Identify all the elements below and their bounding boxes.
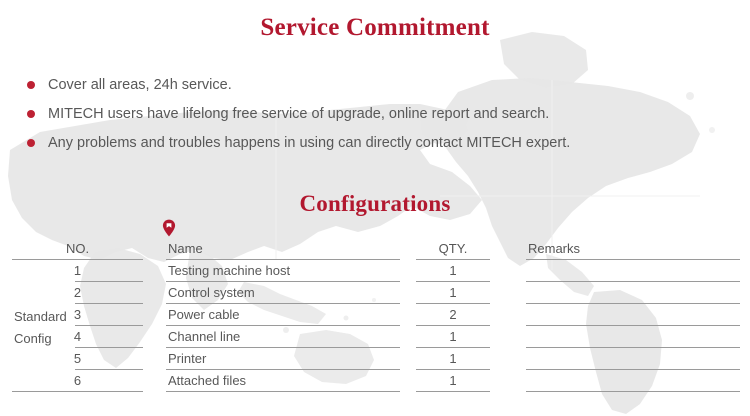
list-item: MITECH users have lifelong free service …	[27, 99, 727, 128]
service-commitment-list: Cover all areas, 24h service. MITECH use…	[27, 70, 727, 157]
bullet-dot-icon	[27, 110, 35, 118]
cell-name: Channel line	[166, 326, 400, 348]
cell-remarks	[526, 304, 740, 326]
cell-name: Control system	[166, 282, 400, 304]
cell-name: Printer	[166, 348, 400, 370]
cell-no: 1	[12, 260, 143, 282]
cell-remarks	[526, 282, 740, 304]
column-header-no: NO.	[12, 238, 143, 260]
cell-no: 3	[12, 304, 143, 326]
list-item-label: Cover all areas, 24h service.	[48, 77, 232, 93]
cell-no: 2	[12, 282, 143, 304]
service-commitment-title: Service Commitment	[0, 14, 750, 42]
cell-name: Testing machine host	[166, 260, 400, 282]
cell-qty: 1	[416, 326, 490, 348]
cell-name: Attached files	[166, 370, 400, 392]
cell-remarks	[526, 370, 740, 392]
column-name: Name Testing machine host Control system…	[166, 238, 400, 392]
list-item-label: Any problems and troubles happens in usi…	[48, 135, 570, 151]
configurations-table: Standard Config NO. 1 2 3 4 5 6 Name Tes…	[0, 238, 750, 408]
column-header-qty: QTY.	[416, 238, 490, 260]
bullet-dot-icon	[27, 81, 35, 89]
cell-no: 6	[12, 370, 143, 392]
list-item-label: MITECH users have lifelong free service …	[48, 106, 549, 122]
cell-qty: 2	[416, 304, 490, 326]
list-item: Any problems and troubles happens in usi…	[27, 128, 727, 157]
column-qty: QTY. 1 1 2 1 1 1	[416, 238, 490, 392]
cell-remarks	[526, 326, 740, 348]
cell-qty: 1	[416, 282, 490, 304]
configurations-title: Configurations	[0, 191, 750, 217]
cell-qty: 1	[416, 370, 490, 392]
column-header-name: Name	[166, 238, 400, 260]
cell-qty: 1	[416, 260, 490, 282]
cell-no: 4	[12, 326, 143, 348]
bullet-dot-icon	[27, 139, 35, 147]
column-no: NO. 1 2 3 4 5 6	[12, 238, 143, 392]
column-header-remarks: Remarks	[526, 238, 740, 260]
list-item: Cover all areas, 24h service.	[27, 70, 727, 99]
map-pin-icon	[162, 219, 176, 237]
cell-qty: 1	[416, 348, 490, 370]
column-remarks: Remarks	[526, 238, 740, 392]
cell-no: 5	[12, 348, 143, 370]
cell-remarks	[526, 348, 740, 370]
cell-name: Power cable	[166, 304, 400, 326]
cell-remarks	[526, 260, 740, 282]
